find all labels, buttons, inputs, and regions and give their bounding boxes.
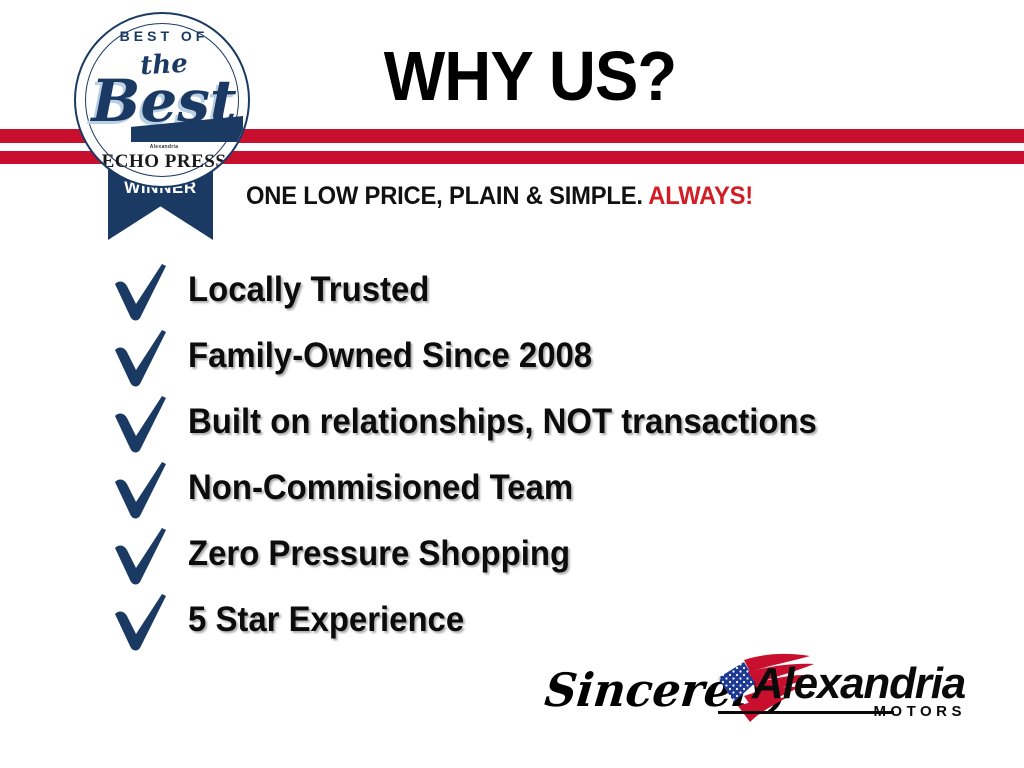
dealer-logo: Alexandria MOTORS: [714, 652, 966, 730]
list-item-label: Locally Trusted: [188, 270, 429, 310]
dealer-name: Alexandria: [752, 661, 965, 707]
checkmark-icon: [110, 328, 174, 388]
checkmark-icon: [110, 592, 174, 652]
tagline: ONE LOW PRICE, PLAIN & SIMPLE. ALWAYS!: [246, 182, 753, 211]
list-item-label: Zero Pressure Shopping: [188, 534, 570, 574]
list-item-label: Non-Commisioned Team: [188, 468, 573, 508]
checkmark-icon: [110, 394, 174, 454]
list-item: 5 Star Experience: [104, 592, 1004, 658]
badge-publisher: ECHO PRESS: [76, 151, 250, 173]
list-item-label: Built on relationships, NOT transactions: [188, 402, 817, 442]
badge-arc-text: BEST OF: [76, 28, 250, 44]
page-title: WHY US?: [316, 40, 744, 112]
benefits-list: Locally Trusted Family-Owned Since 2008 …: [104, 262, 1004, 658]
list-item: Family-Owned Since 2008: [104, 328, 1004, 394]
list-item-label: 5 Star Experience: [188, 600, 464, 640]
best-of-the-best-badge: WINNER BEST OF the Best 2025 Alexandria …: [60, 12, 260, 240]
checkmark-icon: [110, 526, 174, 586]
dealer-subtitle: MOTORS: [873, 703, 966, 720]
list-item: Locally Trusted: [104, 262, 1004, 328]
list-item: Non-Commisioned Team: [104, 460, 1004, 526]
dealer-rule: [718, 711, 894, 714]
tagline-accent: ALWAYS!: [648, 182, 753, 210]
list-item: Built on relationships, NOT transactions: [104, 394, 1004, 460]
badge-publisher-kicker: Alexandria: [76, 144, 250, 150]
checkmark-icon: [110, 460, 174, 520]
list-item-label: Family-Owned Since 2008: [188, 336, 592, 376]
slide-canvas: WHY US? ONE LOW PRICE, PLAIN & SIMPLE. A…: [0, 0, 1024, 768]
badge-seal: BEST OF the Best 2025 Alexandria ECHO PR…: [74, 12, 250, 188]
checkmark-icon: [110, 262, 174, 322]
list-item: Zero Pressure Shopping: [104, 526, 1004, 592]
tagline-main: ONE LOW PRICE, PLAIN & SIMPLE.: [246, 182, 643, 210]
